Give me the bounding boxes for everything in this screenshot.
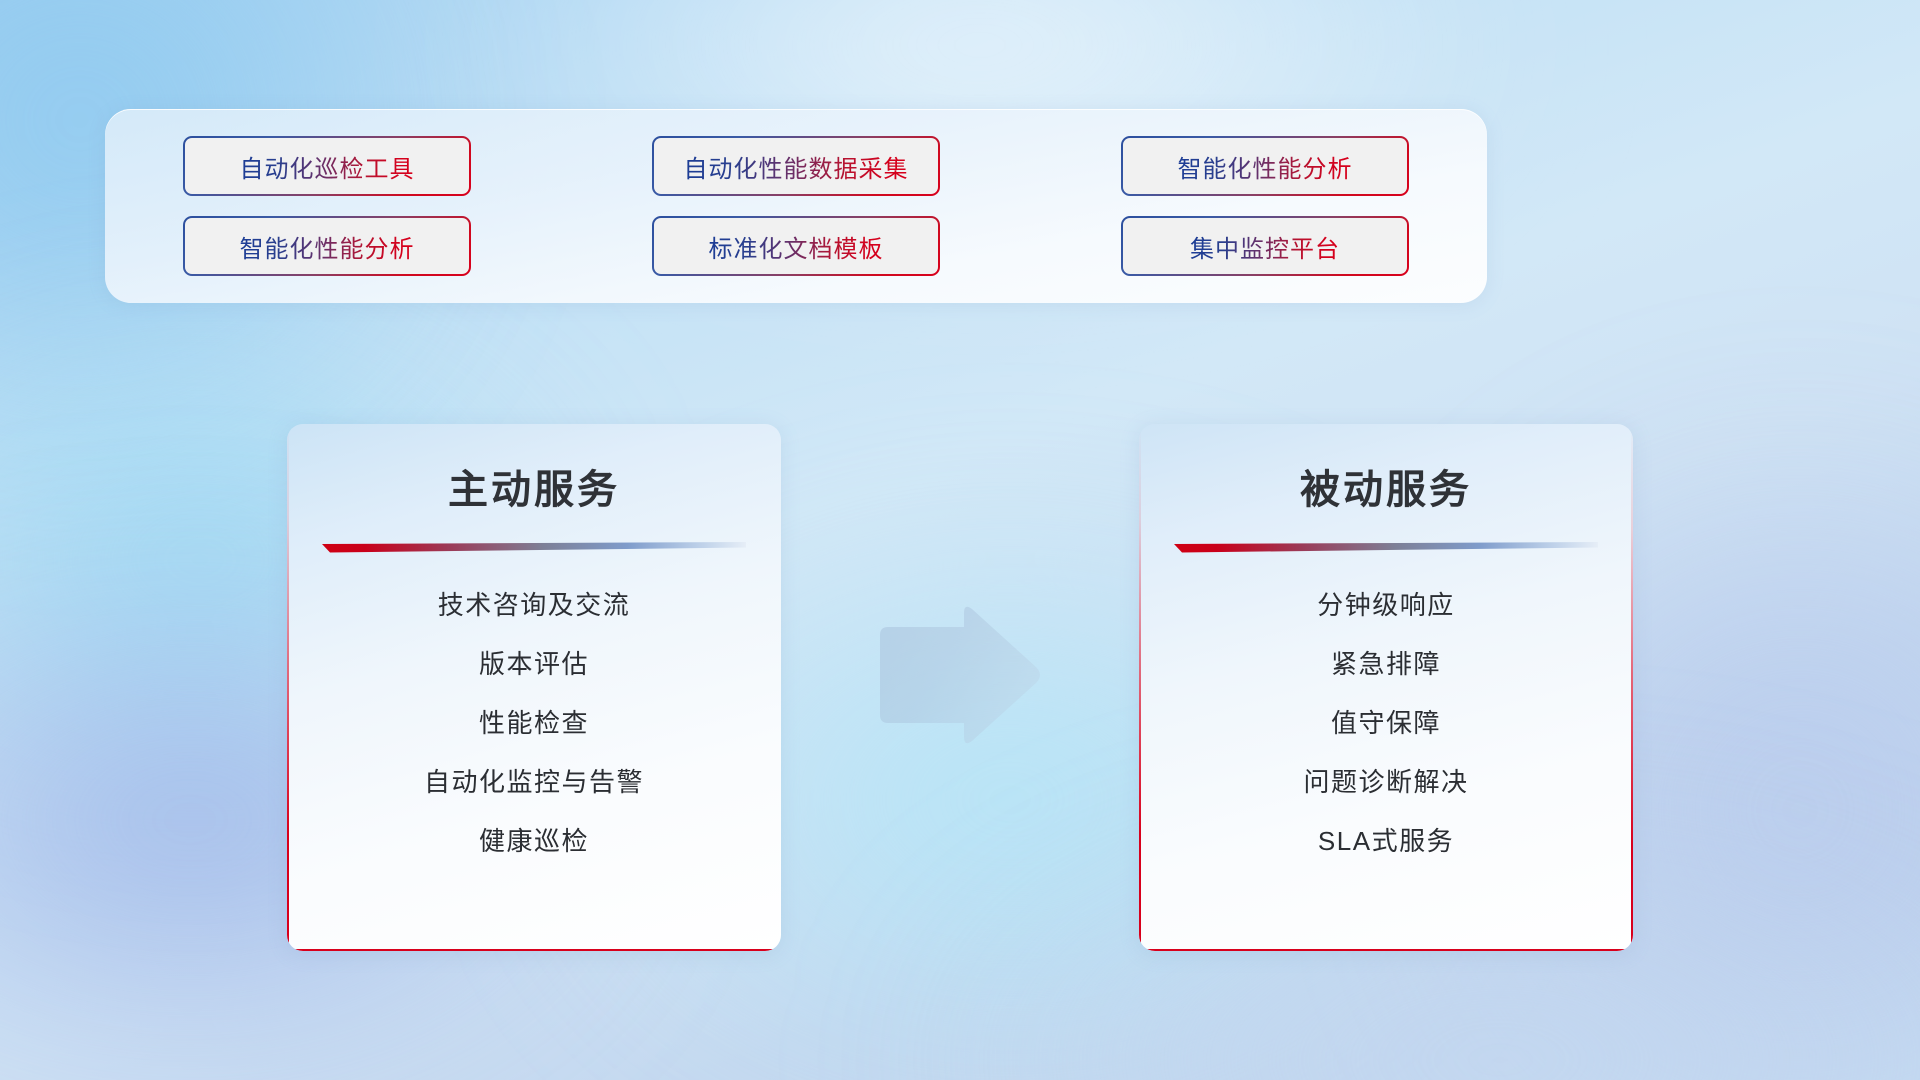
proactive-service-list: 技术咨询及交流 版本评估 性能检查 自动化监控与告警 健康巡检	[287, 585, 781, 858]
arrow-right-icon	[872, 601, 1042, 749]
list-item: 问题诊断解决	[1303, 762, 1468, 799]
pill-inner: 智能化性能分析	[1123, 138, 1407, 194]
list-item: 自动化监控与告警	[424, 762, 644, 799]
capability-pill-auto-inspection-tool[interactable]: 自动化巡检工具	[183, 136, 471, 196]
flow-arrow-right-icon	[872, 601, 1042, 749]
capability-pill-label: 智能化性能分析	[1178, 149, 1353, 184]
capability-pill-intelligent-perf-analysis-1[interactable]: 智能化性能分析	[1121, 136, 1409, 196]
capability-pill-label: 自动化巡检工具	[240, 149, 415, 184]
reactive-service-list: 分钟级响应 紧急排障 值守保障 问题诊断解决 SLA式服务	[1139, 585, 1633, 858]
gradient-ribbon-icon	[322, 542, 746, 553]
reactive-service-card: 被动服务 分钟级响应 紧急排障 值守保障 问题诊断解决 SLA式服务	[1139, 424, 1633, 951]
card-title: 被动服务	[1139, 457, 1633, 515]
list-item: 技术咨询及交流	[438, 585, 631, 622]
capability-pill-label: 集中监控平台	[1190, 229, 1340, 264]
capability-row-2: 智能化性能分析 标准化文档模板 集中监控平台	[183, 216, 1409, 276]
list-item: 分钟级响应	[1317, 585, 1455, 622]
list-item: 健康巡检	[479, 821, 589, 858]
capability-pill-label: 标准化文档模板	[709, 229, 884, 264]
gradient-ribbon-icon	[1174, 542, 1598, 553]
capability-pill-label: 自动化性能数据采集	[684, 149, 909, 184]
pill-inner: 智能化性能分析	[185, 218, 469, 274]
pill-inner: 自动化性能数据采集	[654, 138, 938, 194]
list-item: 值守保障	[1331, 703, 1441, 740]
capability-pill-label: 智能化性能分析	[240, 229, 415, 264]
capability-row-1: 自动化巡检工具 自动化性能数据采集 智能化性能分析	[183, 136, 1409, 196]
pill-inner: 标准化文档模板	[654, 218, 938, 274]
list-item: 紧急排障	[1331, 644, 1441, 681]
card-title: 主动服务	[287, 457, 781, 515]
card-divider	[322, 540, 746, 551]
pill-inner: 自动化巡检工具	[185, 138, 469, 194]
proactive-service-card: 主动服务 技术咨询及交流 版本评估 性能检查 自动化监控与告警 健康巡检	[287, 424, 781, 951]
capability-pill-central-monitoring-platform[interactable]: 集中监控平台	[1121, 216, 1409, 276]
pill-inner: 集中监控平台	[1123, 218, 1407, 274]
list-item: SLA式服务	[1318, 821, 1454, 858]
list-item: 版本评估	[479, 644, 589, 681]
capability-panel: 自动化巡检工具 自动化性能数据采集 智能化性能分析 智能化性能分析 标准化文档模…	[105, 109, 1487, 303]
card-divider	[1174, 540, 1598, 551]
capability-pill-intelligent-perf-analysis-2[interactable]: 智能化性能分析	[183, 216, 471, 276]
list-item: 性能检查	[479, 703, 589, 740]
capability-pill-standard-doc-template[interactable]: 标准化文档模板	[652, 216, 940, 276]
capability-pill-auto-perf-data-collection[interactable]: 自动化性能数据采集	[652, 136, 940, 196]
